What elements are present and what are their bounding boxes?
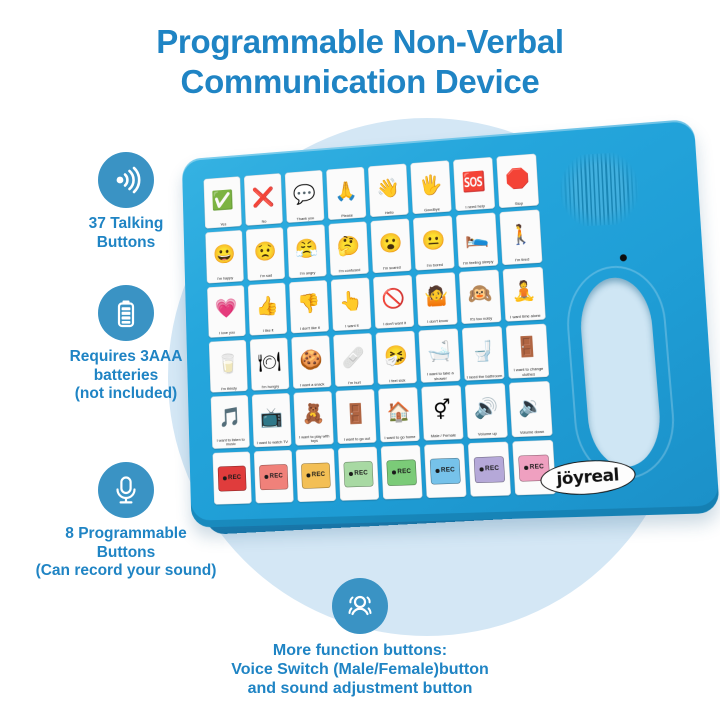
feature-callout-talking-buttons: 37 Talking Buttons — [36, 152, 216, 252]
talking-button[interactable]: 🧸I want to play with toys — [293, 391, 333, 445]
button-label: I want to listen to music — [213, 437, 249, 447]
talking-button[interactable]: 🏠I want to go home — [378, 387, 420, 442]
people-group-icon — [332, 578, 388, 634]
record-label: REC — [312, 472, 326, 479]
button-label: I feel sick — [379, 378, 416, 385]
record-button[interactable]: REC — [296, 448, 337, 502]
record-label: REC — [530, 464, 545, 471]
button-label: Volume up — [468, 431, 506, 437]
button-label: No — [246, 218, 281, 225]
feature-caption: 37 Talking Buttons — [36, 215, 216, 252]
pictogram-icon: 🙏 — [327, 169, 365, 215]
record-dot-icon — [349, 472, 353, 476]
button-label: I want to change clothes — [509, 367, 548, 378]
pictogram-icon: 👍 — [249, 284, 286, 330]
button-label: I want to go home — [381, 435, 418, 441]
button-label: I'm happy — [208, 275, 243, 282]
pictogram-icon: 🧘 — [504, 268, 545, 315]
pictogram-icon: 🏠 — [379, 389, 418, 436]
button-label: I want to play with toys — [296, 434, 333, 444]
communication-device: ✅Yes❌No💬Thank you🙏Please👋Hello🖐Goodbye🆘I… — [165, 122, 716, 550]
talking-button[interactable]: 🙏Please — [326, 167, 366, 221]
sound-wave-icon — [98, 152, 154, 208]
button-label: I'm sad — [248, 273, 284, 280]
talking-button[interactable]: 😟I'm sad — [246, 227, 285, 280]
pictogram-icon: 🧸 — [294, 393, 332, 435]
pictogram-icon: 🚽 — [463, 328, 503, 375]
talking-button[interactable]: 🆘I need help — [453, 157, 495, 212]
rec-chip-icon: REC — [425, 445, 465, 497]
talking-button[interactable]: 📺I want to watch TV — [252, 393, 292, 447]
talking-button[interactable]: 😐I'm bored — [413, 216, 455, 270]
pictogram-icon: 🔊 — [466, 385, 506, 432]
pictogram-icon: 📺 — [253, 395, 291, 441]
button-label: I'm hurt — [336, 380, 373, 386]
feature-caption: More function buttons: Voice Switch (Mal… — [132, 641, 588, 699]
pictogram-icon: 🚪 — [337, 391, 376, 437]
talking-button[interactable]: 🩹I'm hurt — [333, 333, 374, 387]
record-button[interactable]: REC — [254, 450, 294, 504]
button-label: I'm hungry — [252, 384, 288, 390]
record-label: REC — [441, 467, 455, 474]
talking-button[interactable]: 👎I don't like it — [289, 280, 329, 334]
record-button[interactable]: REC — [338, 446, 379, 500]
pictogram-icon: 😮 — [372, 221, 411, 267]
rec-chip-icon: REC — [469, 443, 510, 495]
headline-line-1: Programmable Non-Verbal — [156, 23, 564, 60]
pictogram-icon: 🤷 — [417, 274, 456, 321]
button-label: I'm scared — [374, 265, 411, 272]
talking-button[interactable]: 🤧I feel sick — [376, 331, 417, 386]
pictogram-icon: ⚥ — [422, 387, 462, 434]
button-label: I want to watch TV — [254, 440, 290, 446]
record-dot-icon — [524, 466, 528, 470]
feature-callout-more-functions: More function buttons: Voice Switch (Mal… — [132, 578, 588, 699]
button-label: I want to go out — [338, 436, 375, 442]
button-label: Volume down — [513, 429, 552, 435]
talking-button[interactable]: 🤔I'm confused — [328, 222, 368, 276]
feature-callout-programmable-buttons: 8 Programmable Buttons (Can record your … — [10, 462, 242, 581]
pictogram-icon: 🚫 — [374, 277, 413, 324]
talking-button[interactable]: 🛌I'm feeling sleepy — [456, 213, 498, 268]
pictogram-icon: 🛌 — [457, 215, 497, 262]
record-button[interactable]: REC — [468, 441, 511, 496]
button-label: I want to take a shower — [422, 371, 460, 382]
record-button[interactable]: REC — [381, 445, 423, 500]
speaker-grille-icon — [559, 151, 640, 227]
button-grid: ✅Yes❌No💬Thank you🙏Please👋Hello🖐Goodbye🆘I… — [203, 154, 556, 505]
pictogram-icon: 💬 — [286, 172, 323, 218]
page-title: Programmable Non-Verbal Communication De… — [0, 22, 720, 103]
rec-chip-icon: REC — [297, 450, 335, 501]
pictogram-icon: ❌ — [245, 175, 282, 220]
talking-button[interactable]: 👋Hello — [368, 163, 409, 217]
pictogram-icon: 👆 — [332, 279, 370, 325]
microphone-icon — [98, 462, 154, 518]
record-dot-icon — [479, 468, 483, 472]
talking-button[interactable]: 👍I like it — [248, 282, 287, 335]
pictogram-icon: 🚪 — [507, 326, 548, 369]
pictogram-icon: 🤧 — [377, 333, 416, 380]
record-dot-icon — [264, 475, 268, 479]
button-label: I'm feeling sleepy — [459, 259, 497, 266]
record-label: REC — [397, 469, 411, 476]
button-label: Male / Female — [425, 433, 463, 439]
talking-button[interactable]: 😮I'm scared — [370, 219, 411, 273]
pictogram-icon: 😤 — [288, 227, 326, 273]
button-label: I'm angry — [290, 270, 326, 277]
rec-chip-icon: REC — [255, 452, 293, 503]
function-button[interactable]: 🔉Volume down — [509, 381, 553, 437]
talking-button[interactable]: 🍽I'm hungry — [250, 338, 290, 392]
button-label: I'm bored — [416, 262, 453, 269]
talking-button[interactable]: 🚪I want to go out — [336, 389, 377, 443]
pictogram-icon: 🔉 — [510, 383, 551, 431]
rec-chip-icon: REC — [382, 447, 422, 499]
record-label: REC — [354, 471, 368, 478]
button-label: I need the bathroom — [465, 373, 503, 380]
function-button[interactable]: ⚥Male / Female — [421, 385, 463, 440]
talking-button[interactable]: 🍪I want a snack — [291, 335, 331, 389]
talking-button[interactable]: 😤I'm angry — [287, 225, 327, 279]
record-dot-icon — [306, 474, 310, 478]
pictogram-icon: 🖐 — [411, 162, 450, 209]
record-label: REC — [270, 474, 284, 481]
pictogram-icon: 🚶 — [501, 212, 541, 259]
pictogram-icon: 😟 — [247, 229, 284, 275]
button-label: It's too noisy — [462, 316, 500, 323]
feature-callout-batteries: Requires 3AAA batteries (not included) — [22, 285, 230, 404]
pictogram-icon: 👎 — [290, 282, 328, 328]
talking-button[interactable]: 🚪I want to change clothes — [506, 324, 549, 379]
pictogram-icon: 🆘 — [454, 159, 494, 206]
button-label: I want it — [334, 323, 371, 330]
button-label: I'm confused — [331, 268, 367, 275]
product-marketing-image: Programmable Non-Verbal Communication De… — [0, 0, 720, 720]
battery-icon — [98, 285, 154, 341]
record-dot-icon — [392, 471, 396, 475]
pictogram-icon: 🛁 — [420, 330, 459, 373]
pictogram-icon: 🍽 — [251, 340, 288, 386]
function-button[interactable]: 🔊Volume up — [465, 383, 508, 438]
talking-button[interactable]: ❌No — [244, 173, 283, 226]
button-label: I don't like it — [292, 326, 328, 333]
feature-caption: Requires 3AAA batteries (not included) — [22, 348, 230, 404]
brand-logo-text: jöyreal — [556, 465, 620, 489]
talking-button[interactable]: 🛁I want to take a shower — [418, 328, 460, 383]
pictogram-icon: 😐 — [414, 218, 453, 265]
talking-button[interactable]: 👆I want it — [331, 277, 372, 331]
pictogram-icon: 👋 — [369, 166, 408, 212]
pictogram-icon: 🙉 — [460, 271, 500, 318]
talking-button[interactable]: 🚫I don't want it — [373, 274, 414, 328]
record-button[interactable]: REC — [424, 443, 467, 498]
talking-button[interactable]: 🧘I want time alone — [503, 266, 546, 321]
button-label: I'm tired — [503, 257, 541, 264]
pictogram-icon: 🛑 — [497, 156, 537, 203]
talking-button[interactable]: 🚽I need the bathroom — [462, 326, 505, 381]
talking-button[interactable]: 💬Thank you — [285, 170, 325, 223]
button-label: I don't want it — [376, 321, 413, 328]
feature-caption: 8 Programmable Buttons (Can record your … — [10, 525, 242, 581]
pictogram-icon: 🩹 — [334, 335, 372, 381]
talking-button[interactable]: 🚶I'm tired — [499, 210, 542, 265]
button-label: I don't know — [419, 319, 457, 326]
headline-line-2: Communication Device — [0, 62, 720, 102]
button-label: I like it — [250, 328, 286, 335]
talking-button[interactable]: 🖐Goodbye — [410, 160, 451, 214]
button-label: I want a snack — [294, 382, 330, 388]
pictogram-icon: 🍪 — [292, 337, 330, 383]
rec-chip-icon: REC — [339, 448, 378, 499]
talking-button[interactable]: 🤷I don't know — [416, 272, 458, 327]
talking-button[interactable]: 🛑Stop — [496, 154, 539, 209]
pictogram-icon: 🤔 — [329, 224, 367, 270]
talking-button[interactable]: 🙉It's too noisy — [459, 269, 502, 324]
record-label: REC — [485, 466, 499, 473]
record-dot-icon — [435, 469, 439, 473]
button-label: I want time alone — [506, 314, 544, 321]
